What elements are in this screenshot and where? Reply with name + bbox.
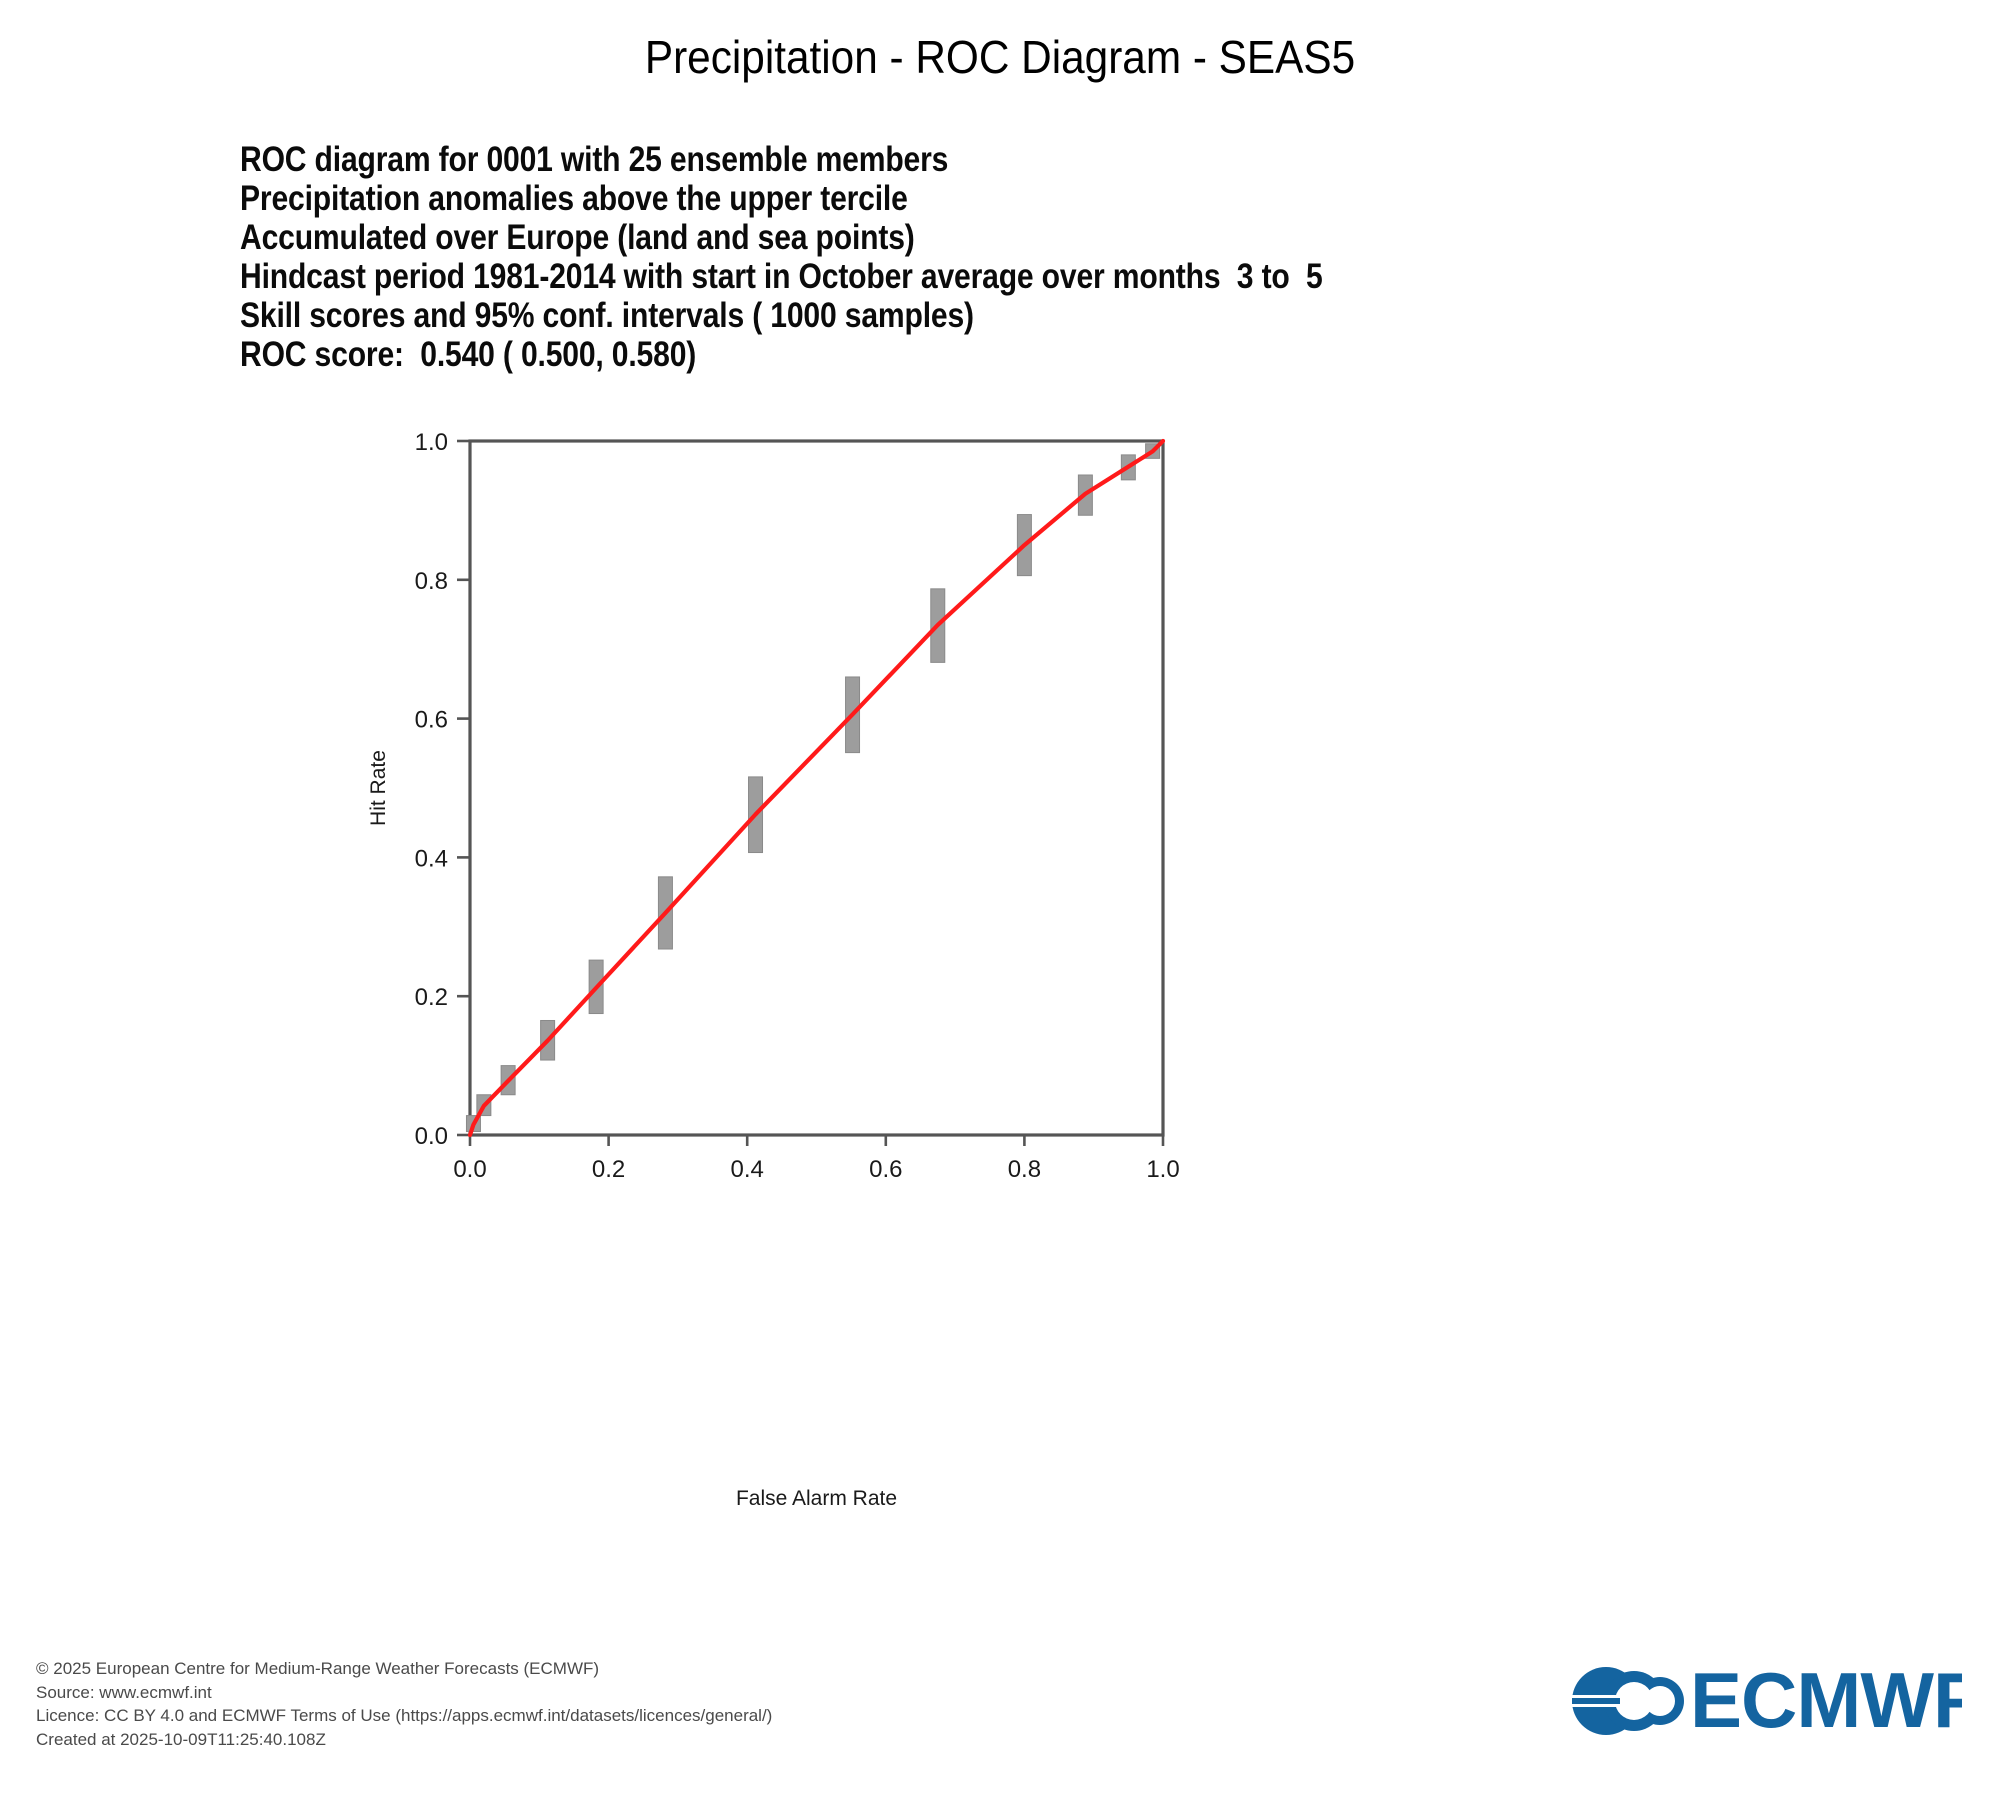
footer-line-copyright: © 2025 European Centre for Medium-Range … bbox=[36, 1657, 772, 1681]
x-axis-label: False Alarm Rate bbox=[736, 1487, 897, 1510]
description-line-2: Precipitation anomalies above the upper … bbox=[240, 179, 1616, 218]
footer-line-created: Created at 2025-10-09T11:25:40.108Z bbox=[36, 1728, 772, 1752]
x-tick-label: 0.0 bbox=[453, 1156, 486, 1183]
confidence-interval-bar bbox=[749, 777, 763, 853]
confidence-interval-bar bbox=[477, 1095, 491, 1116]
roc-curve-path bbox=[470, 441, 1163, 1135]
plot-frame bbox=[470, 441, 1163, 1135]
confidence-interval-bars bbox=[466, 444, 1159, 1132]
ecmwf-logo-text: ECMWF bbox=[1690, 1656, 1962, 1744]
y-axis-label: Hit Rate bbox=[367, 750, 390, 826]
x-tick-label: 1.0 bbox=[1146, 1156, 1179, 1183]
description-line-5: Skill scores and 95% conf. intervals ( 1… bbox=[240, 296, 1616, 335]
roc-curve bbox=[470, 441, 1163, 1135]
footer-line-licence: Licence: CC BY 4.0 and ECMWF Terms of Us… bbox=[36, 1704, 772, 1728]
chart-description-block: ROC diagram for 0001 with 25 ensemble me… bbox=[240, 140, 1840, 374]
ecmwf-logo-mark bbox=[1572, 1667, 1684, 1735]
confidence-interval-bar bbox=[1146, 444, 1160, 459]
description-line-3: Accumulated over Europe (land and sea po… bbox=[240, 218, 1616, 257]
x-tick-label: 0.8 bbox=[1008, 1156, 1041, 1183]
confidence-interval-bar bbox=[846, 677, 860, 753]
y-tick-label: 0.8 bbox=[415, 568, 448, 595]
axis-ticks bbox=[457, 441, 1163, 1146]
x-tick-label: 0.2 bbox=[592, 1156, 625, 1183]
y-tick-label: 0.2 bbox=[415, 984, 448, 1011]
confidence-interval-bar bbox=[466, 1116, 480, 1132]
confidence-interval-bar bbox=[1078, 475, 1092, 515]
description-line-6-roc-score: ROC score: 0.540 ( 0.500, 0.580) bbox=[240, 335, 1616, 374]
confidence-interval-bar bbox=[658, 877, 672, 949]
y-tick-label: 0.0 bbox=[415, 1123, 448, 1150]
x-tick-label: 0.4 bbox=[731, 1156, 764, 1183]
ecmwf-logo: ECMWF bbox=[1572, 1655, 1962, 1747]
confidence-interval-bar bbox=[1121, 455, 1135, 480]
confidence-interval-bar bbox=[1017, 515, 1031, 576]
description-line-4: Hindcast period 1981-2014 with start in … bbox=[240, 257, 1616, 296]
axis-tick-labels: 0.00.20.40.60.81.00.00.20.40.60.81.0 bbox=[415, 429, 1180, 1183]
y-tick-label: 0.4 bbox=[415, 845, 448, 872]
x-tick-label: 0.6 bbox=[869, 1156, 902, 1183]
confidence-interval-bar bbox=[541, 1020, 555, 1060]
confidence-interval-bar bbox=[501, 1066, 515, 1095]
description-line-1: ROC diagram for 0001 with 25 ensemble me… bbox=[240, 140, 1616, 179]
page-title: Precipitation - ROC Diagram - SEAS5 bbox=[80, 30, 1920, 84]
footer-line-source: Source: www.ecmwf.int bbox=[36, 1681, 772, 1705]
y-tick-label: 0.6 bbox=[415, 707, 448, 734]
confidence-interval-bar bbox=[931, 589, 945, 663]
footer-attribution: © 2025 European Centre for Medium-Range … bbox=[36, 1657, 772, 1751]
confidence-interval-bar bbox=[589, 960, 603, 1013]
y-tick-label: 1.0 bbox=[415, 429, 448, 456]
